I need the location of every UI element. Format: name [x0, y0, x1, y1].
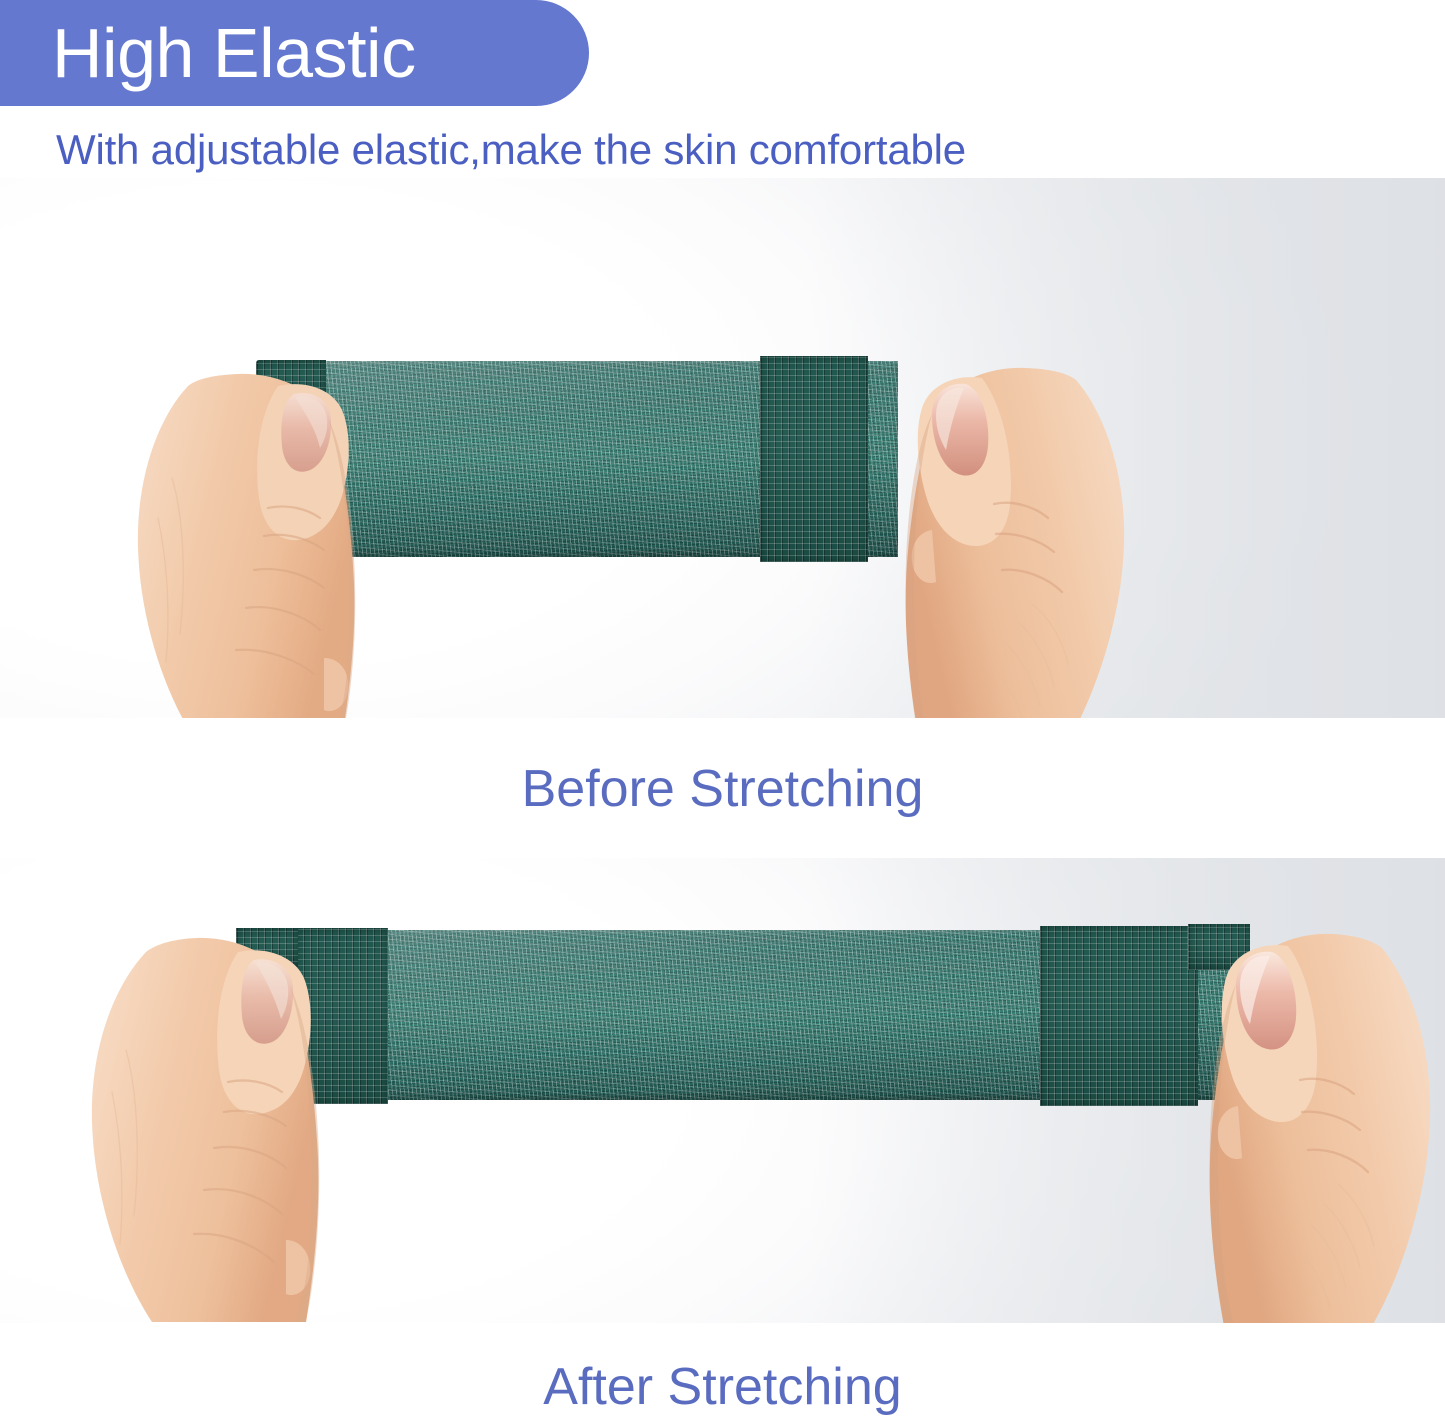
photo-panel-after	[0, 858, 1445, 1323]
photo-panel-before	[0, 178, 1445, 718]
right-hand-before	[836, 354, 1136, 718]
left-hand-after	[82, 922, 388, 1322]
header-subtitle: With adjustable elastic,make the skin co…	[56, 124, 966, 176]
left-hand-before	[128, 358, 428, 718]
right-hand-after	[1136, 920, 1442, 1323]
page-title: High Elastic	[52, 18, 416, 88]
caption-before-stretching: Before Stretching	[0, 758, 1445, 820]
header-badge: High Elastic	[0, 0, 589, 106]
caption-after-stretching: After Stretching	[0, 1356, 1445, 1418]
